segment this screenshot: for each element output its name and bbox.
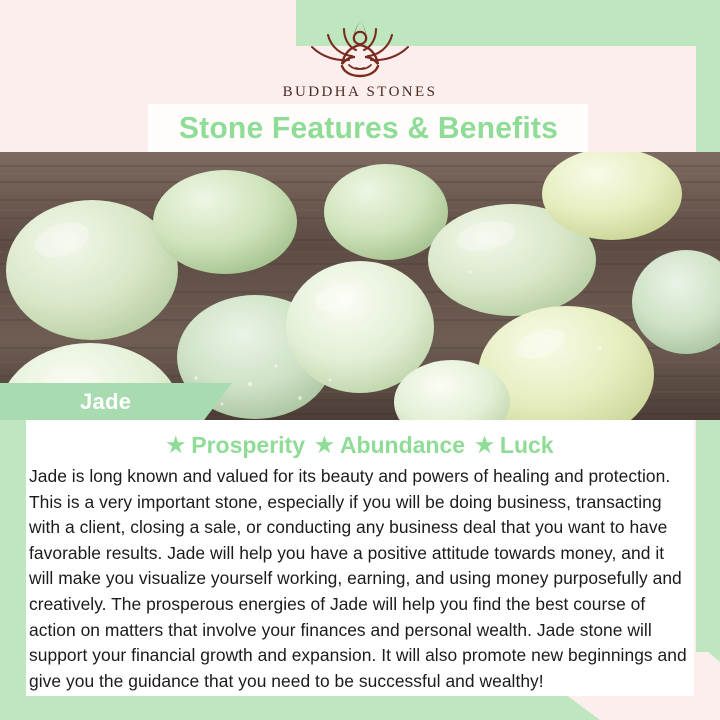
brand-logo: BUDDHA STONES bbox=[0, 14, 720, 101]
star-icon: ★ bbox=[315, 435, 334, 456]
benefits-row: ★ Prosperity ★ Abundance ★ Luck bbox=[26, 426, 694, 464]
lotus-meditation-icon bbox=[304, 14, 416, 80]
stone-photo-illustration bbox=[0, 152, 720, 420]
section-title-band: Stone Features & Benefits bbox=[148, 104, 588, 152]
stone-name: Jade bbox=[80, 389, 131, 415]
brand-name: BUDDHA STONES bbox=[283, 84, 438, 101]
stone-name-band: Jade bbox=[0, 383, 232, 420]
benefit-item-abundance: ★ Abundance bbox=[315, 432, 465, 459]
stone-description: Jade is long known and valued for its be… bbox=[26, 464, 694, 694]
page-title: Stone Features & Benefits bbox=[178, 110, 557, 146]
stone-photo bbox=[0, 152, 720, 420]
benefit-item-prosperity: ★ Prosperity bbox=[166, 432, 305, 459]
star-icon: ★ bbox=[475, 435, 494, 456]
benefit-label: Prosperity bbox=[191, 432, 305, 459]
star-icon: ★ bbox=[166, 435, 185, 456]
benefit-item-luck: ★ Luck bbox=[475, 432, 554, 459]
benefit-label: Abundance bbox=[340, 432, 465, 459]
content-panel: ★ Prosperity ★ Abundance ★ Luck Jade is … bbox=[26, 420, 694, 696]
benefit-label: Luck bbox=[500, 432, 554, 459]
